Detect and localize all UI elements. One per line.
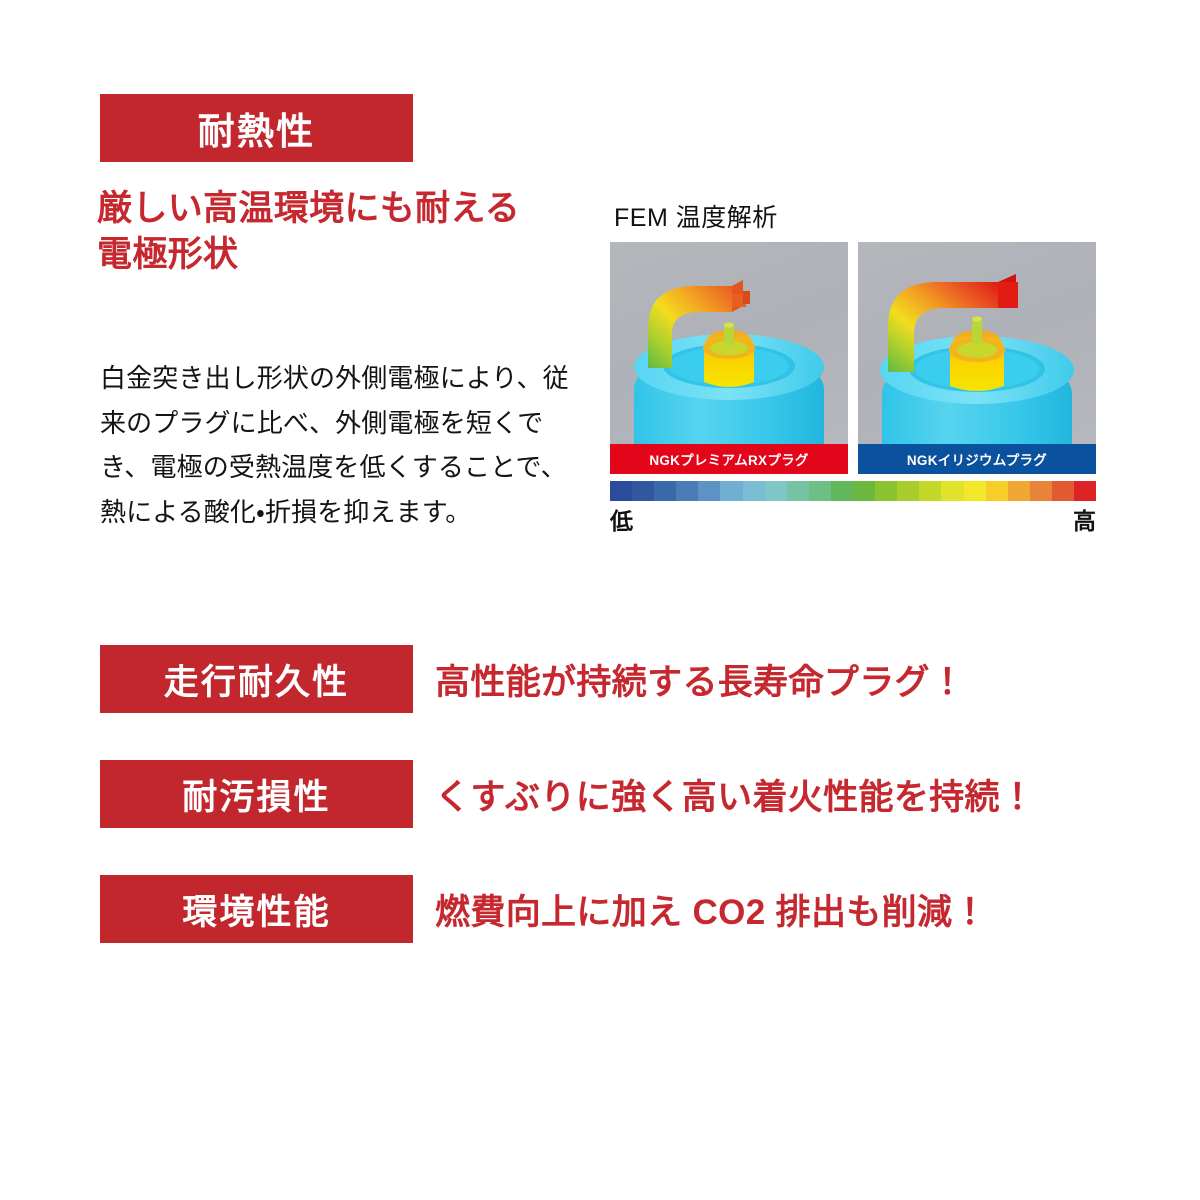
fem-panel-iridium: NGKイリジウムプラグ (858, 242, 1096, 474)
color-scale-bar (610, 481, 1096, 501)
product-feature-sheet: 耐熱性 厳しい高温環境にも耐える 電極形状 白金突き出し形状の外側電極により、従… (0, 0, 1200, 1200)
subheading-line-2: 電極形状 (97, 232, 597, 278)
fem-thermal-image-iridium (858, 242, 1096, 474)
color-scale-swatch-11 (853, 481, 875, 501)
temperature-color-scale: 低 高 (610, 481, 1096, 536)
fem-panel-label-premium-rx: NGKプレミアムRXプラグ (610, 444, 848, 474)
feature-row: 走行耐久性高性能が持続する長寿命プラグ！ (0, 645, 1200, 713)
scale-low-label: 低 (610, 502, 633, 536)
color-scale-swatch-21 (1074, 481, 1096, 501)
fem-panel-group: NGKプレミアムRXプラグ (610, 242, 1096, 474)
color-scale-swatch-2 (654, 481, 676, 501)
color-scale-swatch-3 (676, 481, 698, 501)
fem-panel-label-iridium: NGKイリジウムプラグ (858, 444, 1096, 474)
fem-thermal-image-premium-rx (610, 242, 848, 474)
color-scale-swatch-13 (897, 481, 919, 501)
feature-text: くすぶりに強く高い着火性能を持続！ (435, 769, 1035, 820)
color-scale-swatch-1 (632, 481, 654, 501)
color-scale-swatch-0 (610, 481, 632, 501)
feature-list: 走行耐久性高性能が持続する長寿命プラグ！耐汚損性くすぶりに強く高い着火性能を持続… (0, 645, 1200, 990)
color-scale-swatch-14 (919, 481, 941, 501)
color-scale-swatch-18 (1008, 481, 1030, 501)
feature-badge: 耐汚損性 (100, 760, 413, 828)
feature-row: 耐汚損性くすぶりに強く高い着火性能を持続！ (0, 760, 1200, 828)
fem-caption: FEM 温度解析 (614, 198, 1096, 234)
feature-badge: 環境性能 (100, 875, 413, 943)
section-badge-heat-resistance: 耐熱性 (100, 94, 413, 162)
color-scale-swatch-9 (809, 481, 831, 501)
color-scale-swatch-5 (720, 481, 742, 501)
color-scale-swatch-16 (964, 481, 986, 501)
color-scale-swatch-4 (698, 481, 720, 501)
subheading-line-1: 厳しい高温環境にも耐える (97, 186, 597, 232)
fem-analysis-figure: FEM 温度解析 (610, 198, 1096, 536)
feature-text: 高性能が持続する長寿命プラグ！ (435, 654, 965, 705)
feature-row: 環境性能燃費向上に加え CO2 排出も削減！ (0, 875, 1200, 943)
color-scale-swatch-17 (986, 481, 1008, 501)
color-scale-swatch-15 (941, 481, 963, 501)
scale-high-label: 高 (1073, 502, 1096, 536)
heat-resistance-section: 耐熱性 厳しい高温環境にも耐える 電極形状 白金突き出し形状の外側電極により、従… (0, 0, 1200, 560)
heat-resistance-body-text: 白金突き出し形状の外側電極により、従来のプラグに比べ、外側電極を短くでき、電極の… (100, 356, 580, 535)
color-scale-swatch-19 (1030, 481, 1052, 501)
fem-panel-premium-rx: NGKプレミアムRXプラグ (610, 242, 848, 474)
color-scale-swatch-12 (875, 481, 897, 501)
heat-resistance-subheading: 厳しい高温環境にも耐える 電極形状 (97, 186, 597, 278)
feature-badge: 走行耐久性 (100, 645, 413, 713)
color-scale-swatch-6 (743, 481, 765, 501)
feature-text: 燃費向上に加え CO2 排出も削減！ (435, 884, 988, 935)
color-scale-swatch-10 (831, 481, 853, 501)
color-scale-swatch-7 (765, 481, 787, 501)
color-scale-swatch-8 (787, 481, 809, 501)
color-scale-labels: 低 高 (610, 502, 1096, 536)
color-scale-swatch-20 (1052, 481, 1074, 501)
